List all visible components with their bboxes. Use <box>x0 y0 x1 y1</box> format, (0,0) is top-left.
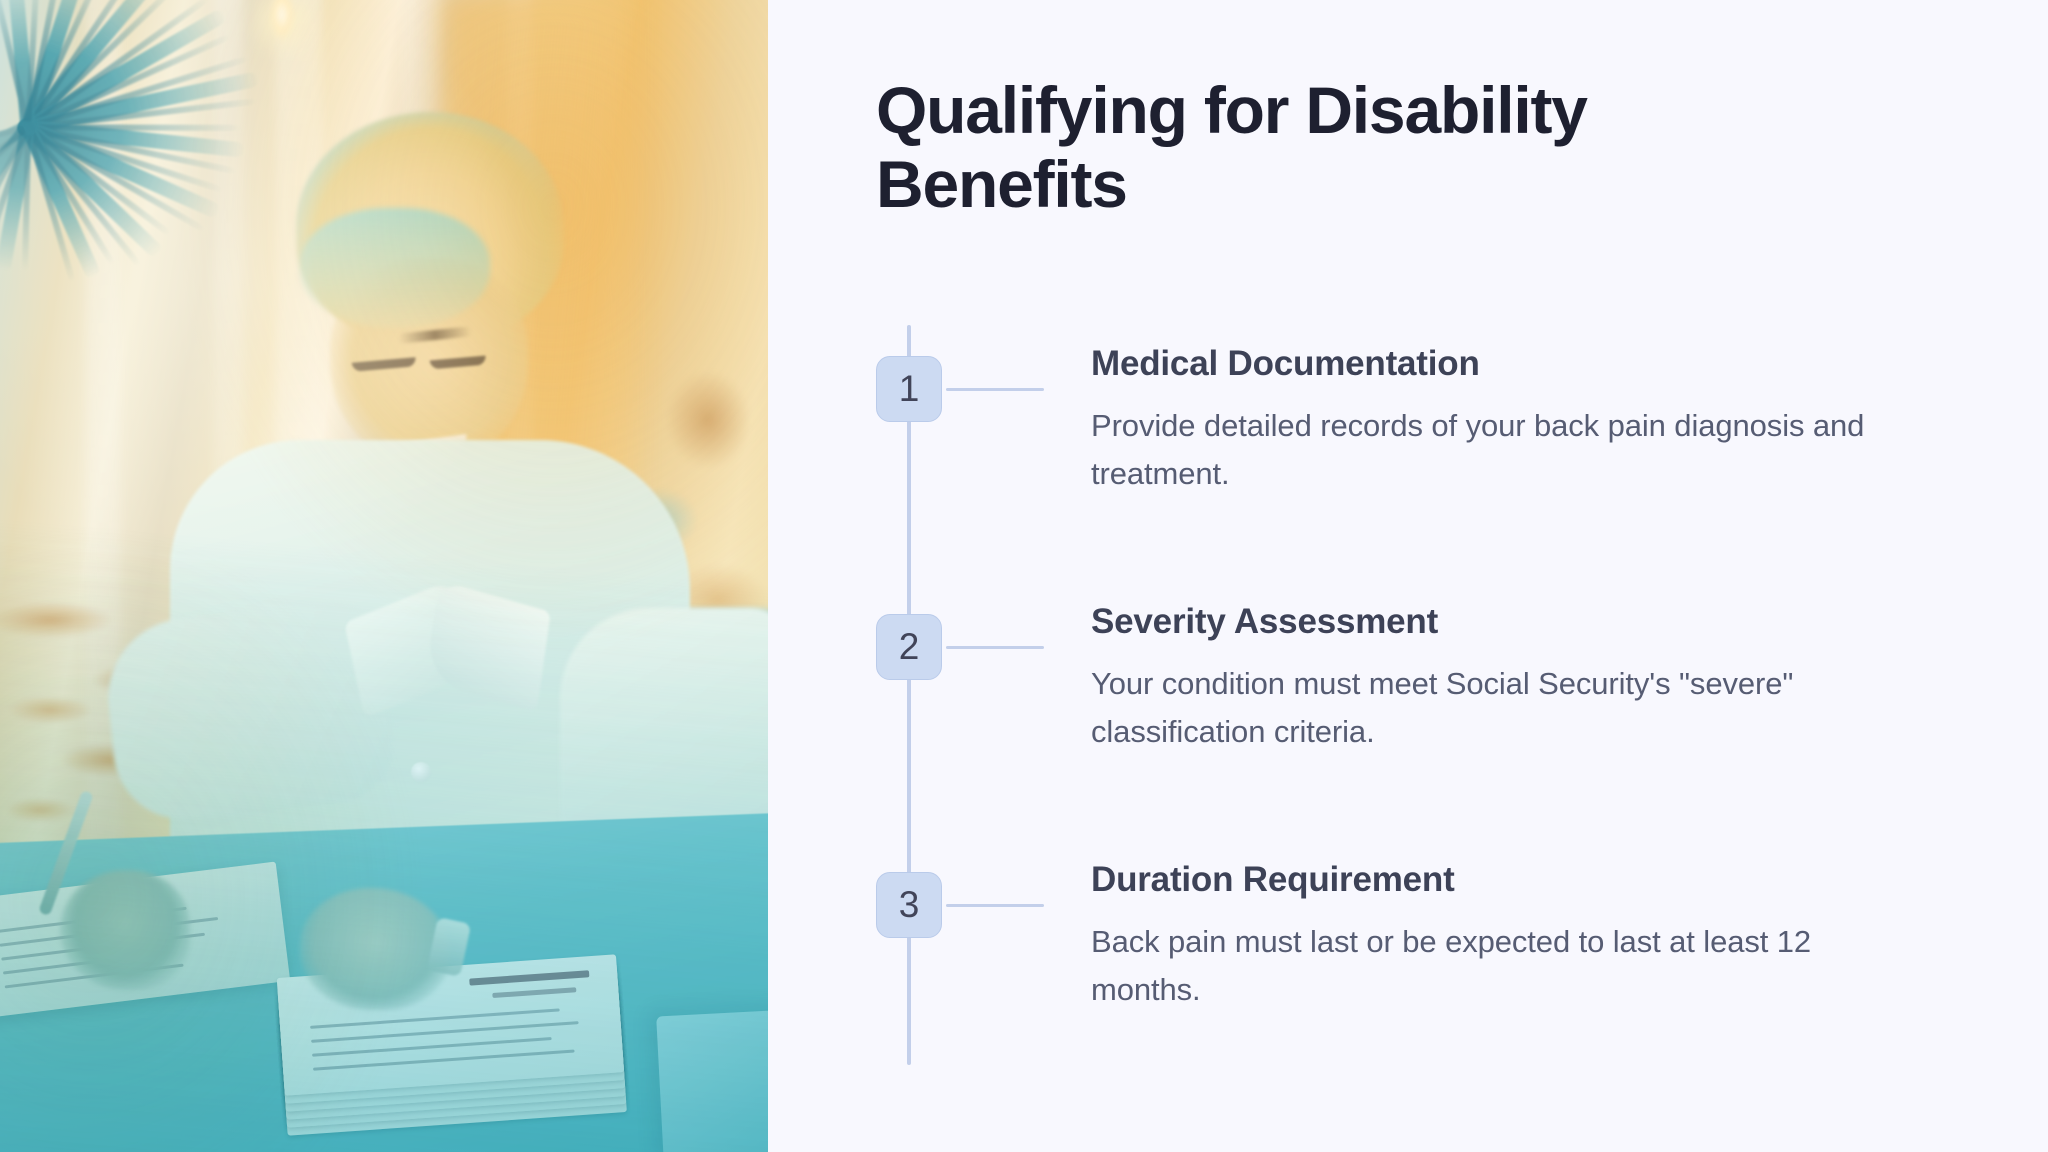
timeline-step[interactable]: 1 Medical Documentation Provide detailed… <box>876 325 2036 583</box>
slide-root: Qualifying for Disability Benefits 1 Med… <box>0 0 2048 1152</box>
hero-photo <box>0 0 768 1152</box>
content-panel: Qualifying for Disability Benefits 1 Med… <box>768 0 2048 1152</box>
photo-stage <box>0 0 768 1152</box>
step-number-badge: 1 <box>876 356 942 422</box>
steps-timeline: 1 Medical Documentation Provide detailed… <box>876 325 2036 1065</box>
step-connector-line <box>946 646 1044 649</box>
step-description: Provide detailed records of your back pa… <box>1091 402 1911 498</box>
step-number-badge: 3 <box>876 872 942 938</box>
step-title: Duration Requirement <box>1091 859 2036 901</box>
timeline-step[interactable]: 3 Duration Requirement Back pain must la… <box>876 841 2036 1065</box>
step-body: Severity Assessment Your condition must … <box>1091 583 2036 756</box>
step-description: Your condition must meet Social Security… <box>1091 660 1911 756</box>
photo-light-bloom <box>0 0 768 1152</box>
step-title: Severity Assessment <box>1091 601 2036 643</box>
step-body: Duration Requirement Back pain must last… <box>1091 841 2036 1014</box>
step-number-badge: 2 <box>876 614 942 680</box>
step-connector-line <box>946 904 1044 907</box>
step-description: Back pain must last or be expected to la… <box>1091 918 1911 1014</box>
timeline-step[interactable]: 2 Severity Assessment Your condition mus… <box>876 583 2036 841</box>
page-title: Qualifying for Disability Benefits <box>876 74 1796 222</box>
step-connector-line <box>946 388 1044 391</box>
step-body: Medical Documentation Provide detailed r… <box>1091 325 2036 498</box>
step-title: Medical Documentation <box>1091 343 2036 385</box>
